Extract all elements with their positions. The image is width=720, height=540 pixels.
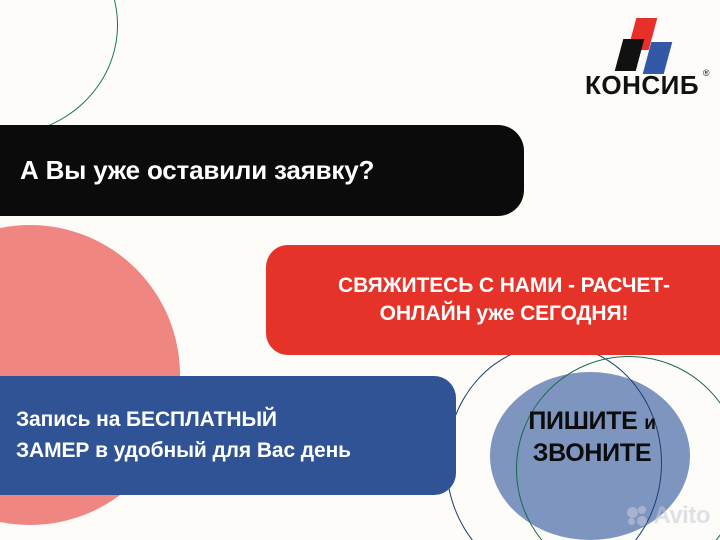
- logo-wordmark: КОНСИБ®: [585, 72, 699, 98]
- question-banner: А Вы уже оставили заявку?: [0, 125, 524, 216]
- free-measurement-banner: Запись на БЕСПЛАТНЫЙ ЗАМЕР в удобный для…: [0, 376, 456, 495]
- contact-banner: СВЯЖИТЕСЬ С НАМИ - РАСЧЕТ- ОНЛАЙН уже СЕ…: [266, 245, 720, 355]
- brand-logo: КОНСИБ®: [576, 18, 708, 99]
- avito-watermark-label: Avito: [653, 504, 710, 528]
- write-and-call-word-write: ПИШИТЕ: [528, 407, 637, 435]
- contact-banner-line-1: СВЯЖИТЕСЬ С НАМИ - РАСЧЕТ-: [338, 272, 670, 300]
- advertisement-canvas: КОНСИБ® А Вы уже оставили заявку? СВЯЖИТ…: [0, 0, 720, 540]
- write-and-call-line-2: ЗВОНИТЕ: [492, 437, 692, 469]
- write-and-call-text: ПИШИТЕ и ЗВОНИТЕ: [492, 405, 692, 469]
- avito-logo-icon: [627, 506, 649, 526]
- logo-lozenge-black-icon: [615, 39, 645, 71]
- green-ring-top-left-icon: [0, 0, 118, 136]
- write-and-call-conjunction: и: [644, 413, 655, 434]
- free-measurement-banner-line-2: ЗАМЕР в удобный для Вас день: [16, 436, 440, 466]
- contact-banner-line-2: ОНЛАЙН уже СЕГОДНЯ!: [380, 300, 629, 328]
- avito-watermark: Avito: [627, 504, 710, 528]
- free-measurement-banner-line-1: Запись на БЕСПЛАТНЫЙ: [16, 405, 440, 435]
- write-and-call-line-1: ПИШИТЕ и: [492, 405, 692, 437]
- logo-mark-icon: [611, 18, 673, 70]
- question-banner-line-1: А Вы уже оставили заявку?: [20, 155, 506, 186]
- registered-trademark-icon: ®: [703, 69, 710, 78]
